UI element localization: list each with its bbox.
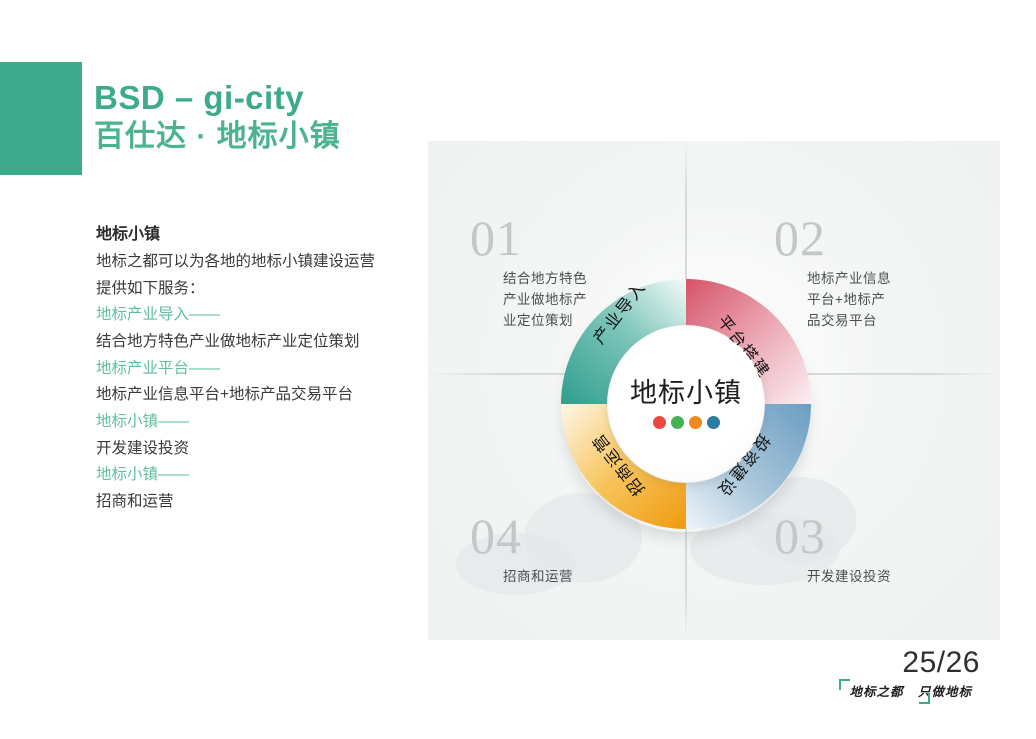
service-label-3: 地标小镇—— (96, 409, 426, 436)
slide-footer: 25/26 地标之都 只做地标 (820, 648, 980, 701)
footer-slogan: 地标之都 只做地标 (841, 684, 980, 700)
bracket-bottom-right-icon (919, 693, 930, 704)
slide-canvas: BSD – gi-city 百仕达 · 地标小镇 地标小镇 地标之都可以为各地的… (0, 0, 1036, 739)
hub-dots (653, 416, 720, 429)
hub-title: 地标小镇 (630, 380, 742, 407)
intro-line-2: 提供如下服务： (96, 276, 426, 303)
service-detail-3: 开发建设投资 (96, 436, 426, 463)
hub-dot-green (671, 416, 684, 429)
title-accent-bar (0, 62, 82, 175)
page-number: 25/26 (820, 648, 980, 678)
quadrant-caption-04: 招商和运营 (503, 567, 573, 588)
title-english: BSD – gi-city (94, 79, 514, 117)
donut-center-hub: 地标小镇 (608, 326, 764, 482)
quadrant-number-01: 01 (470, 213, 587, 263)
slogan-brand: 地标之都 (849, 685, 903, 699)
quadrant-caption-02: 地标产业信息平台+地标产品交易平台 (807, 269, 891, 332)
bracket-top-left-icon (839, 679, 850, 690)
diagram-panel: 01 结合地方特色产业做地标产业定位策划 02 地标产业信息平台+地标产品交易平… (428, 141, 1000, 640)
hub-dot-blue (707, 416, 720, 429)
service-label-2: 地标产业平台—— (96, 356, 426, 383)
quadrant-number-02: 02 (774, 213, 891, 263)
service-list-heading: 地标小镇 (96, 221, 426, 249)
hub-dot-orange (689, 416, 702, 429)
intro-line-1: 地标之都可以为各地的地标小镇建设运营 (96, 249, 426, 276)
service-list: 地标小镇 地标之都可以为各地的地标小镇建设运营 提供如下服务： 地标产业导入——… (96, 221, 426, 516)
service-detail-4: 招商和运营 (96, 489, 426, 516)
service-list-body: 地标之都可以为各地的地标小镇建设运营 提供如下服务： 地标产业导入—— 结合地方… (96, 249, 426, 516)
service-label-4: 地标小镇—— (96, 462, 426, 489)
quadrant-caption-03: 开发建设投资 (807, 567, 891, 588)
service-detail-1: 结合地方特色产业做地标产业定位策划 (96, 329, 426, 356)
service-detail-2: 地标产业信息平台+地标产品交易平台 (96, 382, 426, 409)
hub-dot-red (653, 416, 666, 429)
service-label-1: 地标产业导入—— (96, 302, 426, 329)
